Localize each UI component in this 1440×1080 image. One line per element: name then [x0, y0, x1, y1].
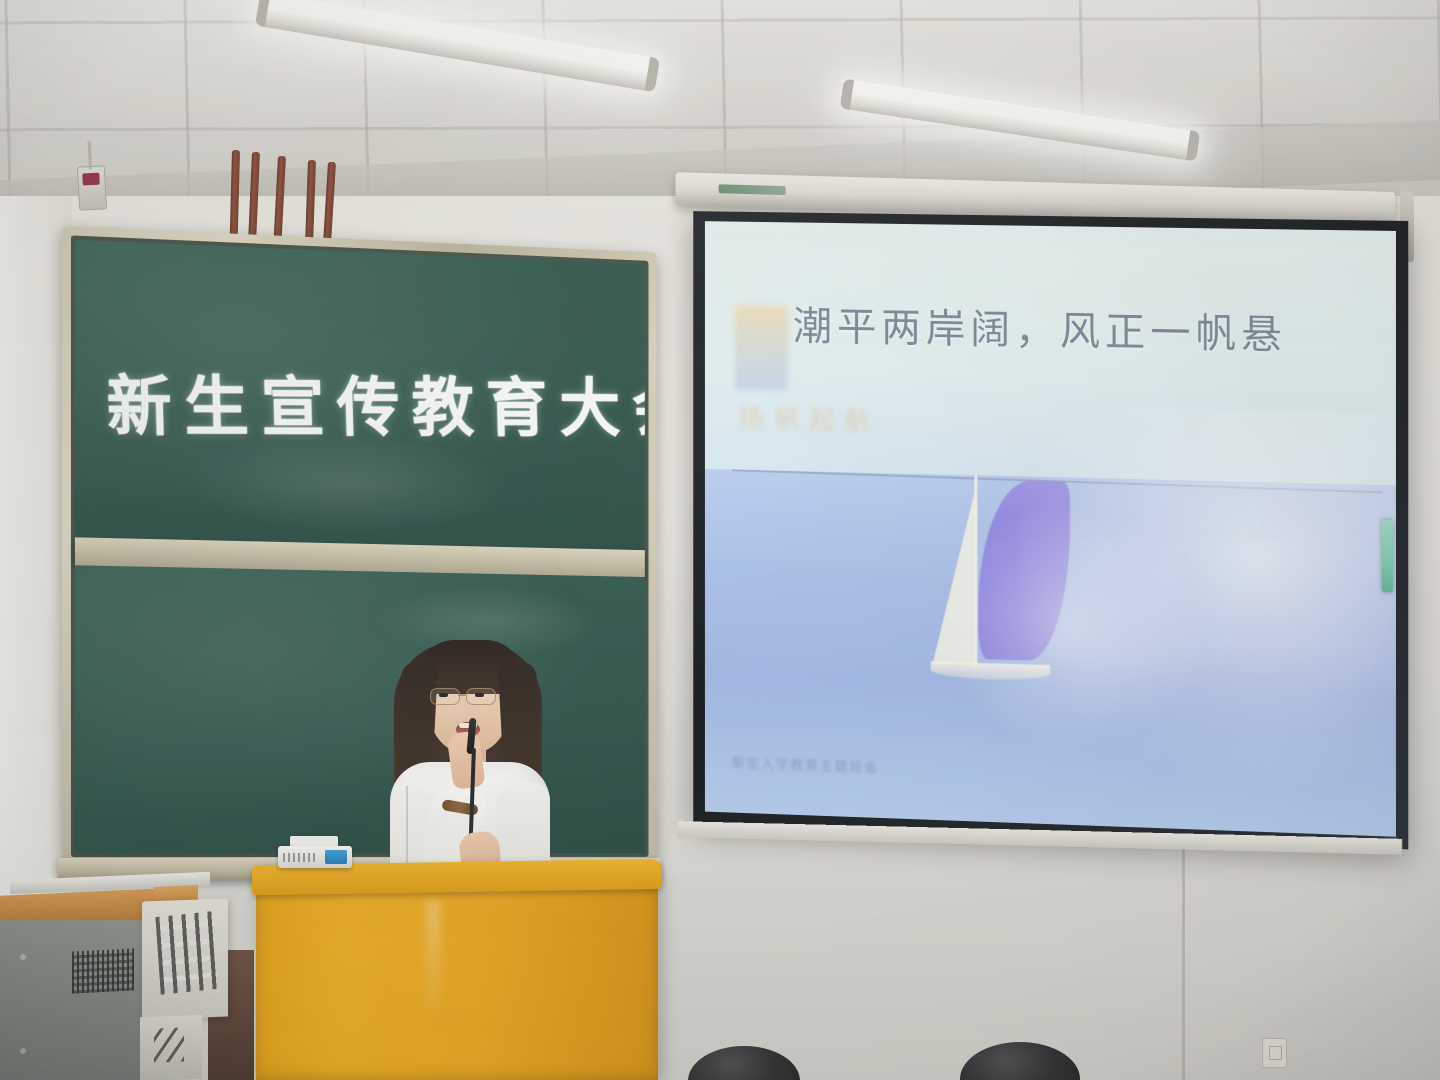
slide-decorative-graphic	[735, 304, 788, 390]
device-blue-button[interactable]	[325, 850, 347, 864]
speaker-base	[140, 1015, 202, 1080]
base-vent-slots	[154, 1028, 184, 1063]
podium-highlight	[425, 901, 441, 1021]
wall-seam	[1182, 830, 1185, 1080]
power-outlet	[1262, 1038, 1287, 1068]
presentation-slide: 潮平两岸阔，风正一帆悬 扬帆起航 新生入学教育主题班会	[705, 221, 1396, 837]
blouse-fold	[406, 786, 408, 864]
speaker-grill	[72, 948, 134, 993]
wireless-receiver-device	[278, 846, 352, 868]
speaker-vent-panel	[142, 898, 228, 1019]
presenter-eyebrow	[434, 681, 452, 684]
classroom-photo: 新生宣传教育大会 欢迎 —— 2021级新生入学 潮平两岸阔，风正一帆悬	[0, 0, 1440, 1080]
presenter-eye	[475, 693, 484, 697]
slide-wave-spray	[936, 498, 1213, 757]
eyeglasses-bridge	[458, 694, 466, 696]
housing-brand-logo	[719, 184, 786, 195]
green-indicator-strip	[1382, 520, 1393, 592]
blackboard-title-text: 新生宣传教育大会	[105, 353, 644, 449]
projector-screen: 潮平两岸阔，风正一帆悬 扬帆起航 新生入学教育主题班会	[693, 211, 1408, 849]
slide-title-text: 潮平两岸阔，风正一帆悬	[793, 293, 1287, 360]
blackboard-panel-top: 新生宣传教育大会	[75, 240, 645, 553]
slide-watermark-text: 扬帆起航	[739, 399, 880, 439]
presenter-eyebrow	[470, 681, 488, 684]
device-grill	[283, 853, 317, 862]
lectern-podium	[256, 872, 658, 1080]
alarm-device-icon	[77, 165, 107, 210]
audio-equipment-left	[0, 890, 262, 1080]
presenter-eye	[439, 693, 448, 697]
vent-slots	[155, 911, 218, 995]
cabinet-screw	[20, 1048, 26, 1054]
alarm-lens	[82, 173, 100, 186]
cabinet-screw	[20, 954, 26, 960]
